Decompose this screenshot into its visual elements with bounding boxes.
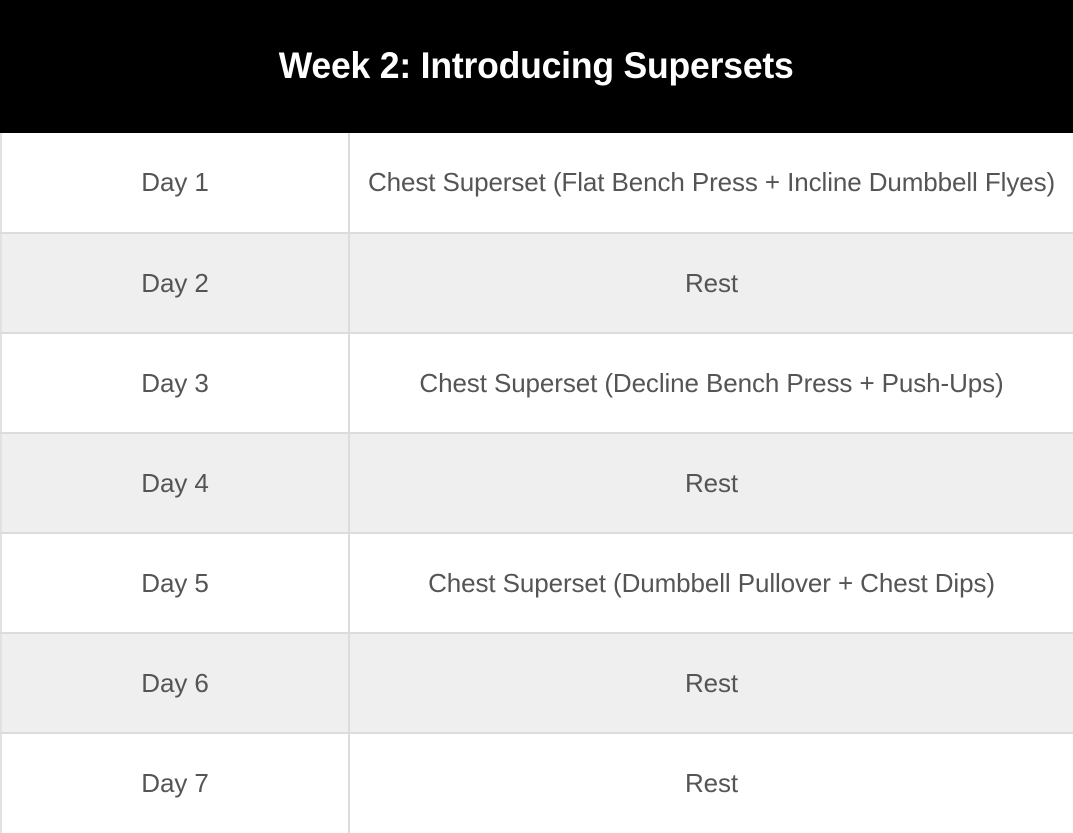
cell-day: Day 7: [1, 733, 349, 833]
workout-label: Rest: [364, 265, 1059, 302]
day-label: Day 2: [16, 265, 334, 302]
cell-day: Day 5: [1, 533, 349, 633]
cell-workout: Chest Superset (Decline Bench Press + Pu…: [349, 333, 1073, 433]
day-label: Day 5: [16, 565, 334, 602]
table-row: Day 6 Rest: [1, 633, 1073, 733]
cell-day: Day 4: [1, 433, 349, 533]
cell-workout: Chest Superset (Dumbbell Pullover + Ches…: [349, 533, 1073, 633]
workout-label: Chest Superset (Flat Bench Press + Incli…: [364, 164, 1059, 201]
day-label: Day 4: [16, 465, 334, 502]
cell-workout: Chest Superset (Flat Bench Press + Incli…: [349, 133, 1073, 233]
table-row: Day 1 Chest Superset (Flat Bench Press +…: [1, 133, 1073, 233]
table-row: Day 7 Rest: [1, 733, 1073, 833]
schedule-table-body: Day 1 Chest Superset (Flat Bench Press +…: [1, 133, 1073, 833]
workout-label: Rest: [364, 765, 1059, 802]
day-label: Day 6: [16, 665, 334, 702]
cell-day: Day 1: [1, 133, 349, 233]
cell-day: Day 2: [1, 233, 349, 333]
schedule-header-banner: Week 2: Introducing Supersets: [0, 0, 1073, 133]
day-label: Day 3: [16, 365, 334, 402]
cell-workout: Rest: [349, 633, 1073, 733]
cell-day: Day 6: [1, 633, 349, 733]
day-label: Day 7: [16, 765, 334, 802]
table-row: Day 3 Chest Superset (Decline Bench Pres…: [1, 333, 1073, 433]
workout-label: Rest: [364, 465, 1059, 502]
weekly-schedule-card: Week 2: Introducing Supersets Day 1 Ches…: [0, 0, 1073, 833]
weekly-schedule-table: Day 1 Chest Superset (Flat Bench Press +…: [0, 133, 1073, 833]
cell-day: Day 3: [1, 333, 349, 433]
day-label: Day 1: [16, 164, 334, 201]
cell-workout: Rest: [349, 733, 1073, 833]
cell-workout: Rest: [349, 233, 1073, 333]
workout-label: Chest Superset (Dumbbell Pullover + Ches…: [364, 565, 1059, 602]
workout-label: Chest Superset (Decline Bench Press + Pu…: [364, 365, 1059, 402]
cell-workout: Rest: [349, 433, 1073, 533]
table-row: Day 4 Rest: [1, 433, 1073, 533]
workout-label: Rest: [364, 665, 1059, 702]
table-row: Day 5 Chest Superset (Dumbbell Pullover …: [1, 533, 1073, 633]
page-title: Week 2: Introducing Supersets: [279, 46, 794, 87]
table-row: Day 2 Rest: [1, 233, 1073, 333]
